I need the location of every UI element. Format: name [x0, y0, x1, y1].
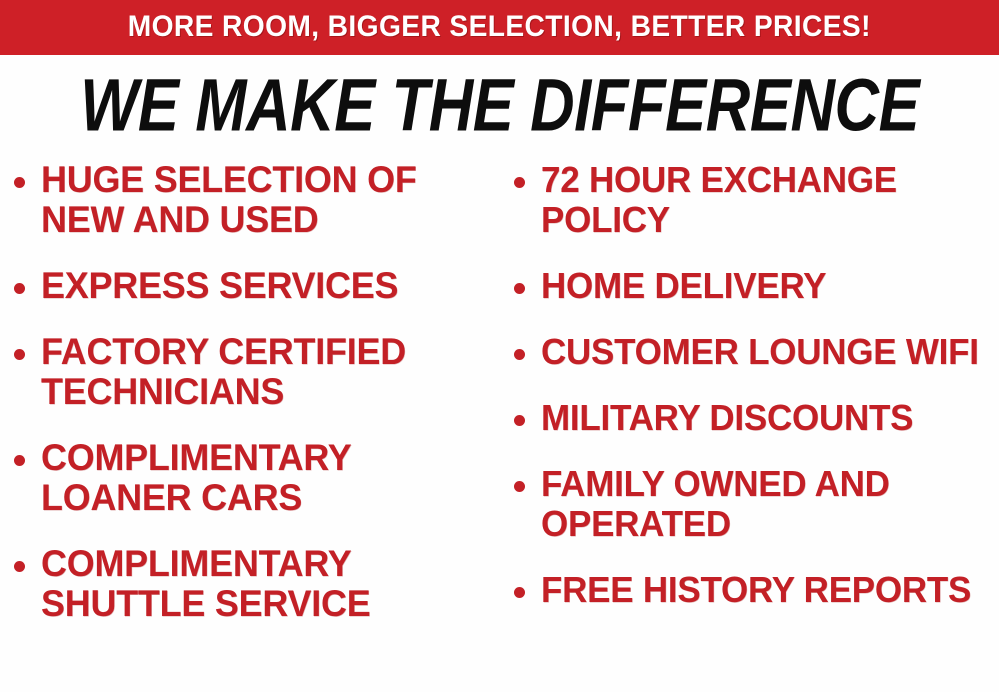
bullet-dot-icon: [14, 177, 25, 188]
list-item-label: FACTORY CERTIFIED TECHNICIANS: [41, 332, 490, 412]
list-item: HUGE SELECTION OF NEW AND USED: [14, 160, 504, 240]
list-item-label: CUSTOMER LOUNGE WIFI: [541, 332, 985, 372]
list-item: FAMILY OWNED AND OPERATED: [514, 464, 999, 544]
page-title: WE MAKE THE DIFFERENCE: [0, 68, 999, 138]
list-item: COMPLIMENTARY SHUTTLE SERVICE: [14, 544, 504, 624]
list-item-label: 72 HOUR EXCHANGE POLICY: [541, 160, 985, 240]
bullet-dot-icon: [514, 415, 525, 426]
list-item: HOME DELIVERY: [514, 266, 999, 306]
list-item: EXPRESS SERVICES: [14, 266, 504, 306]
bullet-dot-icon: [14, 349, 25, 360]
banner-headline-text: MORE ROOM, BIGGER SELECTION, BETTER PRIC…: [128, 12, 871, 44]
bullet-dot-icon: [514, 283, 525, 294]
bullet-dot-icon: [14, 561, 25, 572]
list-item-label: HUGE SELECTION OF NEW AND USED: [41, 160, 490, 240]
promotional-poster: MORE ROOM, BIGGER SELECTION, BETTER PRIC…: [0, 0, 999, 692]
bullet-dot-icon: [514, 177, 525, 188]
benefits-column-right: 72 HOUR EXCHANGE POLICY HOME DELIVERY CU…: [514, 160, 999, 636]
list-item: 72 HOUR EXCHANGE POLICY: [514, 160, 999, 240]
list-item-label: MILITARY DISCOUNTS: [541, 398, 985, 438]
list-item: COMPLIMENTARY LOANER CARS: [14, 438, 504, 518]
list-item-label: EXPRESS SERVICES: [41, 266, 490, 306]
list-item-label: FREE HISTORY REPORTS: [541, 570, 985, 610]
benefits-column-left: HUGE SELECTION OF NEW AND USED EXPRESS S…: [14, 160, 504, 650]
bullet-dot-icon: [514, 481, 525, 492]
list-item-label: HOME DELIVERY: [541, 266, 985, 306]
list-item: FACTORY CERTIFIED TECHNICIANS: [14, 332, 504, 412]
bullet-dot-icon: [14, 455, 25, 466]
list-item-label: COMPLIMENTARY SHUTTLE SERVICE: [41, 544, 490, 624]
page-title-text: WE MAKE THE DIFFERENCE: [80, 68, 919, 142]
bullet-dot-icon: [14, 283, 25, 294]
list-item: MILITARY DISCOUNTS: [514, 398, 999, 438]
top-banner: MORE ROOM, BIGGER SELECTION, BETTER PRIC…: [0, 0, 999, 55]
bullet-dot-icon: [514, 587, 525, 598]
list-item-label: FAMILY OWNED AND OPERATED: [541, 464, 985, 544]
bullet-dot-icon: [514, 349, 525, 360]
list-item: CUSTOMER LOUNGE WIFI: [514, 332, 999, 372]
list-item-label: COMPLIMENTARY LOANER CARS: [41, 438, 490, 518]
benefits-columns: HUGE SELECTION OF NEW AND USED EXPRESS S…: [0, 160, 999, 680]
list-item: FREE HISTORY REPORTS: [514, 570, 999, 610]
